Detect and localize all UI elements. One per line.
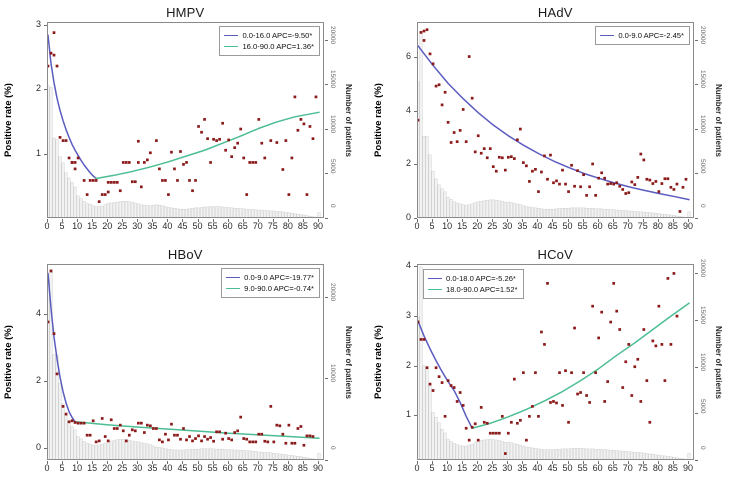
data-point [65, 413, 68, 416]
data-point [627, 191, 630, 194]
data-point [107, 181, 110, 184]
data-point [77, 157, 80, 160]
data-point [594, 194, 597, 197]
x-axis-tick-mark [107, 219, 108, 222]
histogram-bar [685, 459, 688, 460]
histogram-bar [101, 206, 104, 218]
trend-segment-1 [418, 46, 689, 200]
histogram-bar [209, 449, 212, 460]
histogram-bar [92, 206, 95, 218]
histogram-bar [643, 453, 646, 460]
data-point [606, 380, 609, 383]
data-point [275, 141, 278, 144]
histogram-bar [567, 208, 570, 218]
data-point [288, 193, 291, 196]
figure-root: HMPV123050001000015000200000510152025303… [0, 0, 741, 485]
histogram-bar [534, 208, 537, 218]
histogram-bar [459, 446, 462, 460]
x-axis-tick-mark [288, 219, 289, 222]
data-point [537, 415, 540, 418]
data-point [83, 179, 86, 182]
y-axis-right-tick-mark [695, 413, 698, 414]
x-axis-tick-mark [432, 461, 433, 464]
histogram-bar [643, 212, 646, 218]
histogram-bar [239, 209, 242, 218]
data-point [667, 177, 670, 180]
data-point [676, 315, 679, 318]
data-point [285, 442, 288, 445]
histogram-bar [227, 450, 230, 460]
data-point [429, 53, 432, 56]
data-point [471, 97, 474, 100]
data-point [86, 434, 89, 437]
y-axis-right-tick-mark [695, 40, 698, 41]
data-point [86, 193, 89, 196]
data-point [676, 183, 679, 186]
histogram-bar [603, 209, 606, 218]
data-point [594, 371, 597, 374]
histogram-bar [603, 450, 606, 460]
legend-label: 18.0-90.0 APC=1.52* [446, 284, 518, 295]
histogram-bar [212, 449, 215, 460]
data-point [558, 371, 561, 374]
legend-line-icon [428, 278, 442, 279]
histogram-bar [420, 32, 423, 218]
data-point [182, 163, 185, 166]
data-point [254, 441, 257, 444]
histogram-bar [68, 178, 71, 218]
histogram-bar [615, 210, 618, 218]
observed-points [417, 28, 687, 212]
histogram-bar [486, 200, 489, 218]
histogram-bar [258, 210, 261, 218]
histogram-bar [600, 209, 603, 218]
histogram-bar [582, 208, 585, 218]
histogram-bar [685, 217, 688, 218]
data-point [251, 441, 254, 444]
histogram-bar [248, 209, 251, 218]
histogram-bar [582, 448, 585, 460]
panel-title: HAdV [370, 5, 741, 20]
data-point [426, 366, 429, 369]
histogram-bar [194, 449, 197, 460]
histogram-bar [155, 205, 158, 218]
histogram-bar [170, 450, 173, 460]
x-axis-tick-mark [447, 219, 448, 222]
data-point [278, 424, 281, 427]
data-point [248, 441, 251, 444]
histogram-bar [74, 187, 77, 218]
histogram-bar [621, 211, 624, 218]
x-axis-tick-mark [92, 461, 93, 464]
histogram-bar [453, 443, 456, 460]
data-point [203, 435, 206, 438]
y-axis-right-tick-mark [325, 378, 328, 379]
data-point [128, 434, 131, 437]
data-point [639, 400, 642, 403]
data-point [495, 432, 498, 435]
data-point [633, 365, 636, 368]
histogram-bar [522, 446, 525, 460]
histogram-bar [558, 209, 561, 218]
plot-canvas [418, 23, 694, 218]
data-point [306, 435, 309, 438]
histogram-bar [140, 205, 143, 218]
histogram-bar [628, 452, 631, 460]
data-point [236, 429, 239, 432]
y-axis-right-tick-label: 20000 [699, 259, 706, 277]
x-axis-tick-mark [658, 219, 659, 222]
data-point [300, 425, 303, 428]
histogram-bar [318, 453, 321, 460]
histogram-bar [306, 216, 309, 218]
y-axis-right-tick-label: 5000 [699, 399, 706, 413]
x-axis-tick-mark [643, 461, 644, 464]
x-axis-tick-label: 90 [308, 221, 328, 231]
data-point [447, 121, 450, 124]
histogram-bar [480, 440, 483, 460]
data-point [272, 441, 275, 444]
histogram-bar [303, 457, 306, 460]
data-point [68, 157, 71, 160]
data-point [161, 179, 164, 182]
histogram-bar [53, 355, 56, 460]
histogram-bar [206, 207, 209, 218]
histogram-bar [185, 450, 188, 460]
legend-item: 16.0-90.0 APC=1.36* [224, 41, 314, 52]
histogram-bar [670, 215, 673, 218]
histogram-bar [128, 440, 131, 460]
histogram-bar [688, 212, 691, 218]
histogram-bar [609, 450, 612, 460]
y-axis-tick-label: 2 [25, 375, 41, 385]
histogram-bar [173, 450, 176, 460]
histogram-bar [426, 137, 429, 218]
x-axis-tick-mark [213, 461, 214, 464]
histogram-bar [573, 208, 576, 218]
data-point [435, 366, 438, 369]
histogram-bar [143, 443, 146, 460]
histogram-bar [426, 367, 429, 460]
histogram-bar [176, 450, 179, 460]
data-point [645, 178, 648, 181]
histogram-bar [248, 451, 251, 460]
data-point [101, 417, 104, 420]
histogram-bar [215, 207, 218, 218]
histogram-bar [435, 417, 438, 460]
histogram-bar [185, 209, 188, 218]
y-axis-right-tick-label: 10000 [699, 115, 706, 133]
data-point [495, 170, 498, 173]
histogram-bar [236, 208, 239, 218]
data-point [110, 181, 113, 184]
data-point [176, 434, 179, 437]
data-point [513, 378, 516, 381]
data-point [636, 358, 639, 361]
histogram-bar [62, 163, 65, 218]
x-axis-tick-mark [47, 219, 48, 222]
data-point [462, 404, 465, 407]
data-point [612, 183, 615, 186]
legend-label: 16.0-90.0 APC=1.36* [242, 41, 314, 52]
data-point [83, 422, 86, 425]
data-point [288, 424, 291, 427]
x-axis-tick-mark [318, 461, 319, 464]
histogram-bar [612, 450, 615, 460]
data-point [423, 338, 426, 341]
data-point [194, 437, 197, 440]
data-point [531, 405, 534, 408]
histogram-bar [456, 203, 459, 218]
x-axis-tick-mark [643, 219, 644, 222]
x-axis-tick-mark [198, 461, 199, 464]
data-point [606, 183, 609, 186]
data-point [444, 91, 447, 94]
histogram-bar [254, 451, 257, 460]
data-point [227, 437, 230, 440]
y-axis-tick-label: 1 [25, 148, 41, 158]
x-axis-tick-mark [583, 219, 584, 222]
data-point [315, 96, 318, 99]
histogram-bar [119, 202, 122, 218]
histogram-bar [570, 448, 573, 460]
histogram-bar [549, 209, 552, 218]
histogram-bar [450, 441, 453, 460]
histogram-bar [282, 212, 285, 218]
histogram-bar [188, 450, 191, 460]
data-point [474, 151, 477, 154]
x-axis-tick-mark [462, 219, 463, 222]
data-point [642, 328, 645, 331]
histogram-bar [646, 212, 649, 218]
histogram-bar [122, 201, 125, 218]
x-axis-tick-mark [628, 461, 629, 464]
histogram-bar [438, 185, 441, 218]
data-point [558, 183, 561, 186]
data-point [149, 151, 152, 154]
histogram-bar [83, 441, 86, 460]
x-axis-tick-mark [182, 219, 183, 222]
histogram-bar [221, 449, 224, 460]
plot-area [417, 22, 694, 218]
legend-line-icon [226, 288, 240, 289]
data-point [167, 193, 170, 196]
histogram-bar [658, 455, 661, 460]
data-point [179, 150, 182, 153]
histogram-bar [197, 208, 200, 218]
legend-item: 9.0-90.0 APC=-0.74* [226, 283, 314, 294]
data-point [158, 168, 161, 171]
x-axis-tick-mark [273, 219, 274, 222]
histogram-bar [107, 203, 110, 218]
histogram-bar [170, 208, 173, 218]
histogram-bar [640, 453, 643, 460]
data-point [149, 424, 152, 427]
panel-hbov: HBoV024010000200000510152025303540455055… [0, 242, 371, 485]
histogram-bar [688, 453, 691, 460]
data-point [89, 179, 92, 182]
data-point [498, 432, 501, 435]
histogram-bar [267, 452, 270, 460]
y-axis-tick-mark [414, 164, 417, 165]
data-point [573, 327, 576, 330]
histogram-bar [543, 450, 546, 460]
data-point [603, 177, 606, 180]
data-point [107, 440, 110, 443]
data-point [101, 193, 104, 196]
data-point [176, 179, 179, 182]
legend-item: 0.0-9.0 APC=-2.45* [600, 30, 684, 41]
x-axis-tick-mark [462, 461, 463, 464]
histogram-bar [429, 385, 432, 460]
data-point [224, 432, 227, 435]
legend: 0.0-18.0 APC=-5.26*18.0-90.0 APC=1.52* [423, 269, 524, 299]
data-point [670, 343, 673, 346]
data-point [600, 171, 603, 174]
x-axis-tick-mark [477, 461, 478, 464]
histogram-bar [50, 87, 53, 218]
histogram-bar [143, 205, 146, 218]
histogram-bar [161, 448, 164, 460]
patient-count-histogram [417, 32, 690, 218]
histogram-bar [468, 205, 471, 218]
data-point [543, 155, 546, 158]
histogram-bar [176, 209, 179, 218]
y-axis-right-tick-label: 20000 [329, 26, 336, 44]
histogram-bar [492, 440, 495, 460]
x-axis-tick-mark [198, 219, 199, 222]
data-point [588, 401, 591, 404]
x-axis-tick-mark [152, 461, 153, 464]
y-axis-tick-label: 4 [395, 105, 411, 115]
histogram-bar [149, 445, 152, 460]
y-axis-right-tick-label: 10000 [329, 115, 336, 133]
histogram-bar [489, 200, 492, 218]
data-point [564, 183, 567, 186]
data-point [612, 282, 615, 285]
data-point [143, 161, 146, 164]
data-point [173, 168, 176, 171]
histogram-bar [291, 213, 294, 218]
y-axis-right-tick-mark [695, 273, 698, 274]
data-point [633, 183, 636, 186]
histogram-bar [104, 205, 107, 218]
histogram-bar [525, 447, 528, 460]
data-point [498, 156, 501, 159]
histogram-bar [658, 214, 661, 218]
data-point [645, 379, 648, 382]
histogram-bar [230, 450, 233, 460]
data-point [167, 439, 170, 442]
y-axis-right-label: Number of patients [344, 42, 353, 198]
histogram-bar [501, 201, 504, 218]
histogram-bar [594, 209, 597, 218]
histogram-bar [606, 450, 609, 460]
data-point [673, 272, 676, 275]
x-axis-tick-mark [598, 219, 599, 222]
data-point [303, 123, 306, 126]
data-point [47, 65, 49, 68]
data-point [423, 30, 426, 33]
legend-label: 0.0-18.0 APC=-5.26* [446, 273, 516, 284]
y-axis-tick-mark [44, 314, 47, 315]
histogram-bar [224, 207, 227, 218]
data-point [137, 422, 140, 425]
data-point [294, 442, 297, 445]
y-axis-tick-label: 2 [395, 158, 411, 168]
data-point [429, 383, 432, 386]
x-axis-tick-mark [613, 219, 614, 222]
y-axis-right-label: Number of patients [714, 42, 723, 198]
data-point [294, 96, 297, 99]
histogram-bar [661, 214, 664, 218]
histogram-bar [594, 449, 597, 460]
histogram-bar [652, 213, 655, 218]
histogram-bar [543, 209, 546, 218]
data-point [474, 422, 477, 425]
data-point [658, 190, 661, 193]
histogram-bar [98, 445, 101, 460]
histogram-bar [483, 201, 486, 218]
histogram-bar [140, 443, 143, 460]
histogram-bar [561, 449, 564, 460]
x-axis-tick-label: 90 [678, 221, 698, 231]
data-point [456, 400, 459, 403]
data-point [291, 442, 294, 445]
data-point [561, 169, 564, 172]
data-point [47, 321, 49, 324]
data-point [233, 146, 236, 149]
x-axis-tick-mark [673, 219, 674, 222]
legend-label: 0.0-9.0 APC=-2.45* [618, 30, 684, 41]
histogram-bar [441, 189, 444, 218]
data-point [263, 440, 266, 443]
histogram-bar [251, 451, 254, 460]
x-axis-tick-mark [613, 461, 614, 464]
y-axis-tick-label: 6 [395, 51, 411, 61]
data-point [65, 139, 68, 142]
patient-count-histogram [47, 85, 320, 218]
histogram-bar [628, 211, 631, 218]
data-point [540, 171, 543, 174]
y-axis-label: Positive rate (%) [373, 282, 384, 442]
histogram-bar [110, 203, 113, 218]
x-axis-tick-mark [228, 461, 229, 464]
data-point [522, 371, 525, 374]
y-axis-tick-mark [414, 266, 417, 267]
histogram-bar [682, 217, 685, 218]
histogram-bar [615, 451, 618, 460]
histogram-bar [459, 204, 462, 218]
histogram-bar [125, 440, 128, 460]
histogram-bar [465, 205, 468, 218]
data-point [297, 427, 300, 430]
histogram-bar [200, 449, 203, 460]
data-point [492, 165, 495, 168]
data-point [528, 180, 531, 183]
legend-line-icon [224, 46, 238, 47]
data-point [53, 332, 56, 335]
data-point [197, 435, 200, 438]
data-point [667, 277, 670, 280]
histogram-bar [558, 449, 561, 460]
histogram-bar [507, 442, 510, 460]
histogram-bar [420, 267, 423, 460]
histogram-bar [107, 441, 110, 460]
histogram-bar [276, 454, 279, 460]
histogram-bar [679, 217, 682, 218]
data-point [104, 435, 107, 438]
